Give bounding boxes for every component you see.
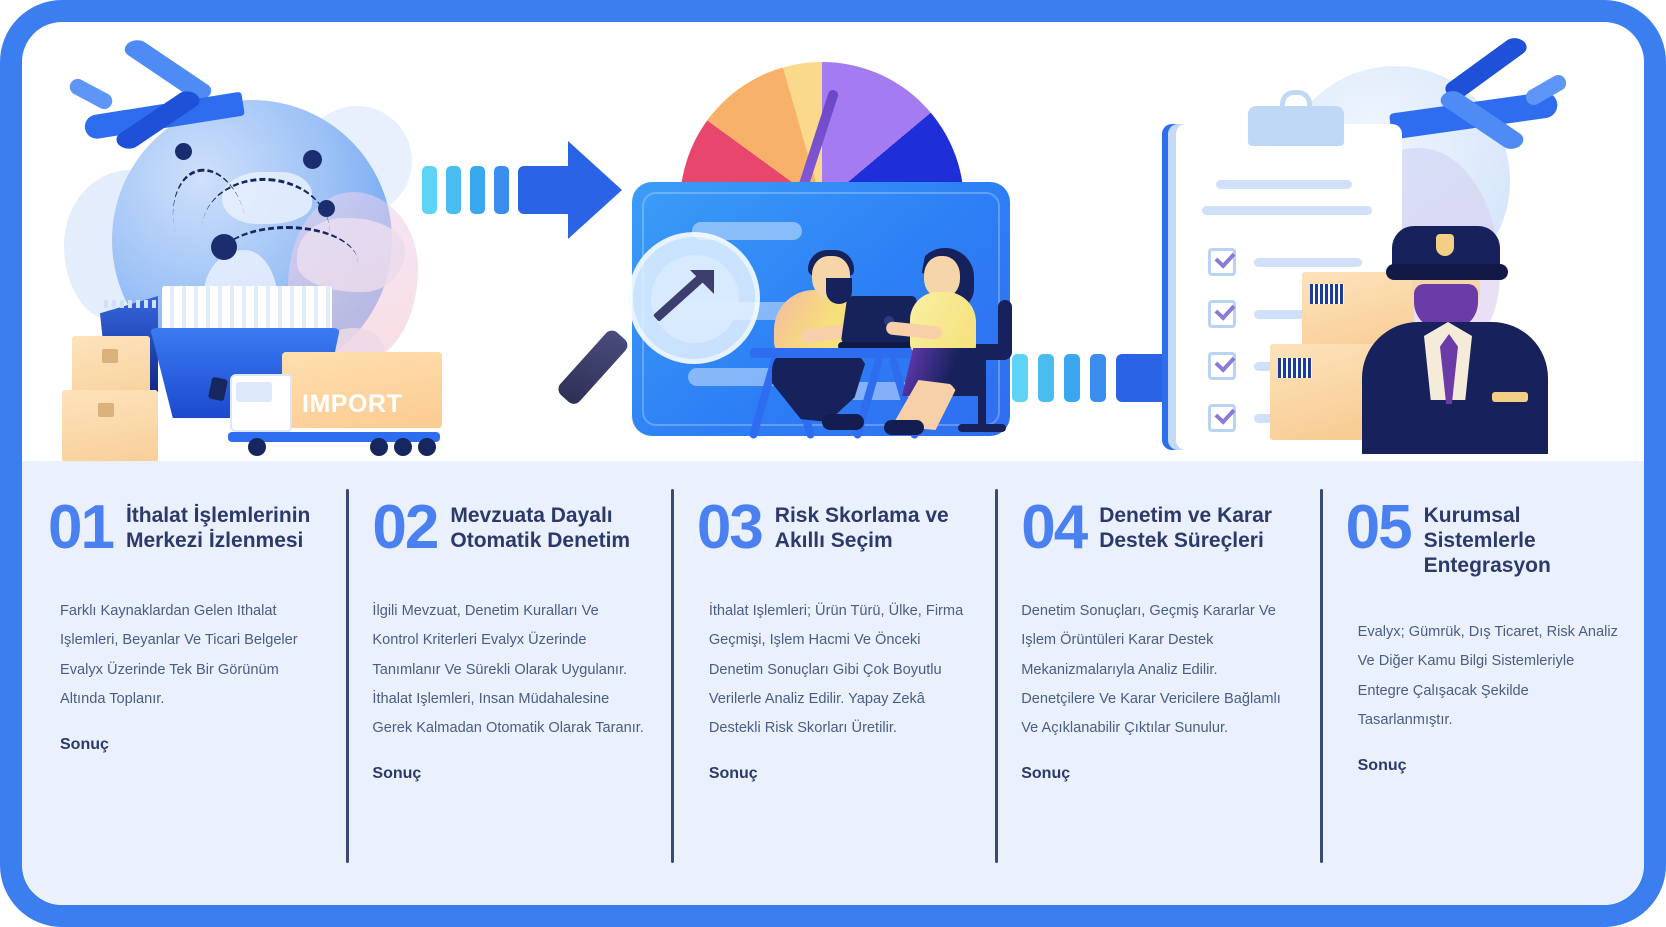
page-frame: IMPORT (0, 0, 1666, 927)
analysts-at-desk (744, 248, 1014, 444)
truck-wheel (394, 438, 412, 456)
checkbox-checked-icon (1208, 248, 1236, 276)
person-shoe (884, 420, 924, 435)
truck-window (236, 382, 272, 402)
process-steps-panel: 01 İthalat İşlemlerinin Merkezi İzlenmes… (22, 461, 1644, 905)
step-result-label: Sonuç (1021, 765, 1293, 783)
step-number: 03 (697, 499, 762, 557)
step-header: 01 İthalat İşlemlerinin Merkezi İzlenmes… (48, 499, 320, 557)
risk-analysis-illustration (614, 62, 1014, 462)
step-header: 02 Mevzuata Dayalı Otomatik Denetim (372, 499, 644, 557)
barcode-icon (1278, 358, 1312, 378)
officer-name-tag (1492, 392, 1528, 402)
step-header: 04 Denetim ve Karar Destek Süreçleri (1021, 499, 1293, 557)
airplane-icon (62, 58, 252, 178)
magnifier-icon (614, 232, 774, 422)
step-number: 01 (48, 499, 113, 557)
airplane-icon (1384, 62, 1574, 172)
arrow-tick (1090, 354, 1106, 402)
arrow-tick (1012, 354, 1028, 402)
arrow-shaft (653, 274, 705, 322)
parcel-box (62, 390, 158, 462)
box-tape (102, 349, 118, 363)
checkbox-checked-icon (1208, 404, 1236, 432)
plane-wing (120, 37, 216, 104)
arrow-tick (1064, 354, 1080, 402)
truck-label: IMPORT (302, 390, 402, 419)
step-card-03: 03 Risk Skorlama ve Akıllı Seçim İthalat… (671, 461, 995, 905)
step-card-02: 02 Mevzuata Dayalı Otomatik Denetim İlgi… (346, 461, 670, 905)
truck-wheel (370, 438, 388, 456)
clipboard-clip (1248, 106, 1344, 146)
step-result-label: Sonuç (1346, 757, 1618, 775)
step-card-04: 04 Denetim ve Karar Destek Süreçleri Den… (995, 461, 1319, 905)
step-title: Denetim ve Karar Destek Süreçleri (1099, 499, 1293, 554)
arrow-shaft (518, 166, 574, 214)
growth-arrow-icon (656, 270, 714, 328)
person-shoe (822, 414, 864, 430)
step-header: 03 Risk Skorlama ve Akıllı Seçim (697, 499, 969, 557)
step-result-label: Sonuç (697, 765, 969, 783)
route-node (318, 200, 335, 217)
step-card-01: 01 İthalat İşlemlerinin Merkezi İzlenmes… (22, 461, 346, 905)
arrow-tick (494, 166, 509, 214)
officer-cap-badge (1436, 234, 1454, 256)
step-title: Risk Skorlama ve Akıllı Seçim (775, 499, 969, 554)
step-number: 02 (372, 499, 437, 557)
arrow-head-shape (518, 144, 622, 236)
plane-tail (67, 76, 115, 112)
step-description: Denetim Sonuçları, Geçmiş Kararlar Ve Iş… (1021, 597, 1293, 743)
truck-wheel (248, 438, 266, 456)
step-description: Evalyx; Gümrük, Dış Ticaret, Risk Analiz… (1346, 618, 1618, 735)
step-title: İthalat İşlemlerinin Merkezi İzlenmesi (126, 499, 320, 554)
arrow-tick (1038, 354, 1054, 402)
checklist-line (1202, 206, 1372, 215)
page-inner: IMPORT (22, 22, 1644, 905)
step-description: İlgili Mevzuat, Denetim Kuralları Ve Kon… (372, 597, 644, 743)
step-description: İthalat Işlemleri; Ürün Türü, Ülke, Firm… (697, 597, 969, 743)
checklist-line (1254, 258, 1362, 267)
import-logistics-illustration: IMPORT (52, 50, 442, 450)
box-tape (98, 403, 114, 417)
person-legs (772, 350, 868, 422)
step-result-label: Sonuç (372, 765, 644, 783)
arrow-tick (446, 166, 461, 214)
step-card-05: 05 Kurumsal Sistemlerle Entegrasyon Eval… (1320, 461, 1644, 905)
person-torso (910, 292, 976, 354)
step-header: 05 Kurumsal Sistemlerle Entegrasyon (1346, 499, 1618, 578)
step-title: Mevzuata Dayalı Otomatik Denetim (450, 499, 644, 554)
truck-icon: IMPORT (220, 350, 444, 470)
analyst-woman (900, 248, 1016, 440)
route-node-origin (211, 234, 237, 260)
officer-cap-brim (1386, 264, 1508, 280)
truck-wheel (418, 438, 436, 456)
arrow-tick (422, 166, 437, 214)
step-number: 05 (1346, 499, 1411, 557)
customs-inspection-illustration (1152, 52, 1552, 464)
ship-windows (104, 300, 156, 308)
flow-arrow-1 (422, 144, 622, 236)
hero-illustration-band: IMPORT (22, 22, 1644, 483)
ship-containers (162, 286, 332, 334)
step-description: Farklı Kaynaklardan Gelen Ithalat Işleml… (48, 597, 320, 714)
checkbox-checked-icon (1208, 352, 1236, 380)
step-title: Kurumsal Sistemlerle Entegrasyon (1424, 499, 1618, 578)
barcode-icon (1310, 284, 1344, 304)
customs-officer (1358, 210, 1554, 454)
step-result-label: Sonuç (48, 736, 320, 754)
checklist-line (1216, 180, 1352, 189)
checkbox-checked-icon (1208, 300, 1236, 328)
magnifier-handle (555, 327, 631, 407)
arrow-tick (470, 166, 485, 214)
route-node (303, 150, 322, 169)
step-number: 04 (1021, 499, 1086, 557)
